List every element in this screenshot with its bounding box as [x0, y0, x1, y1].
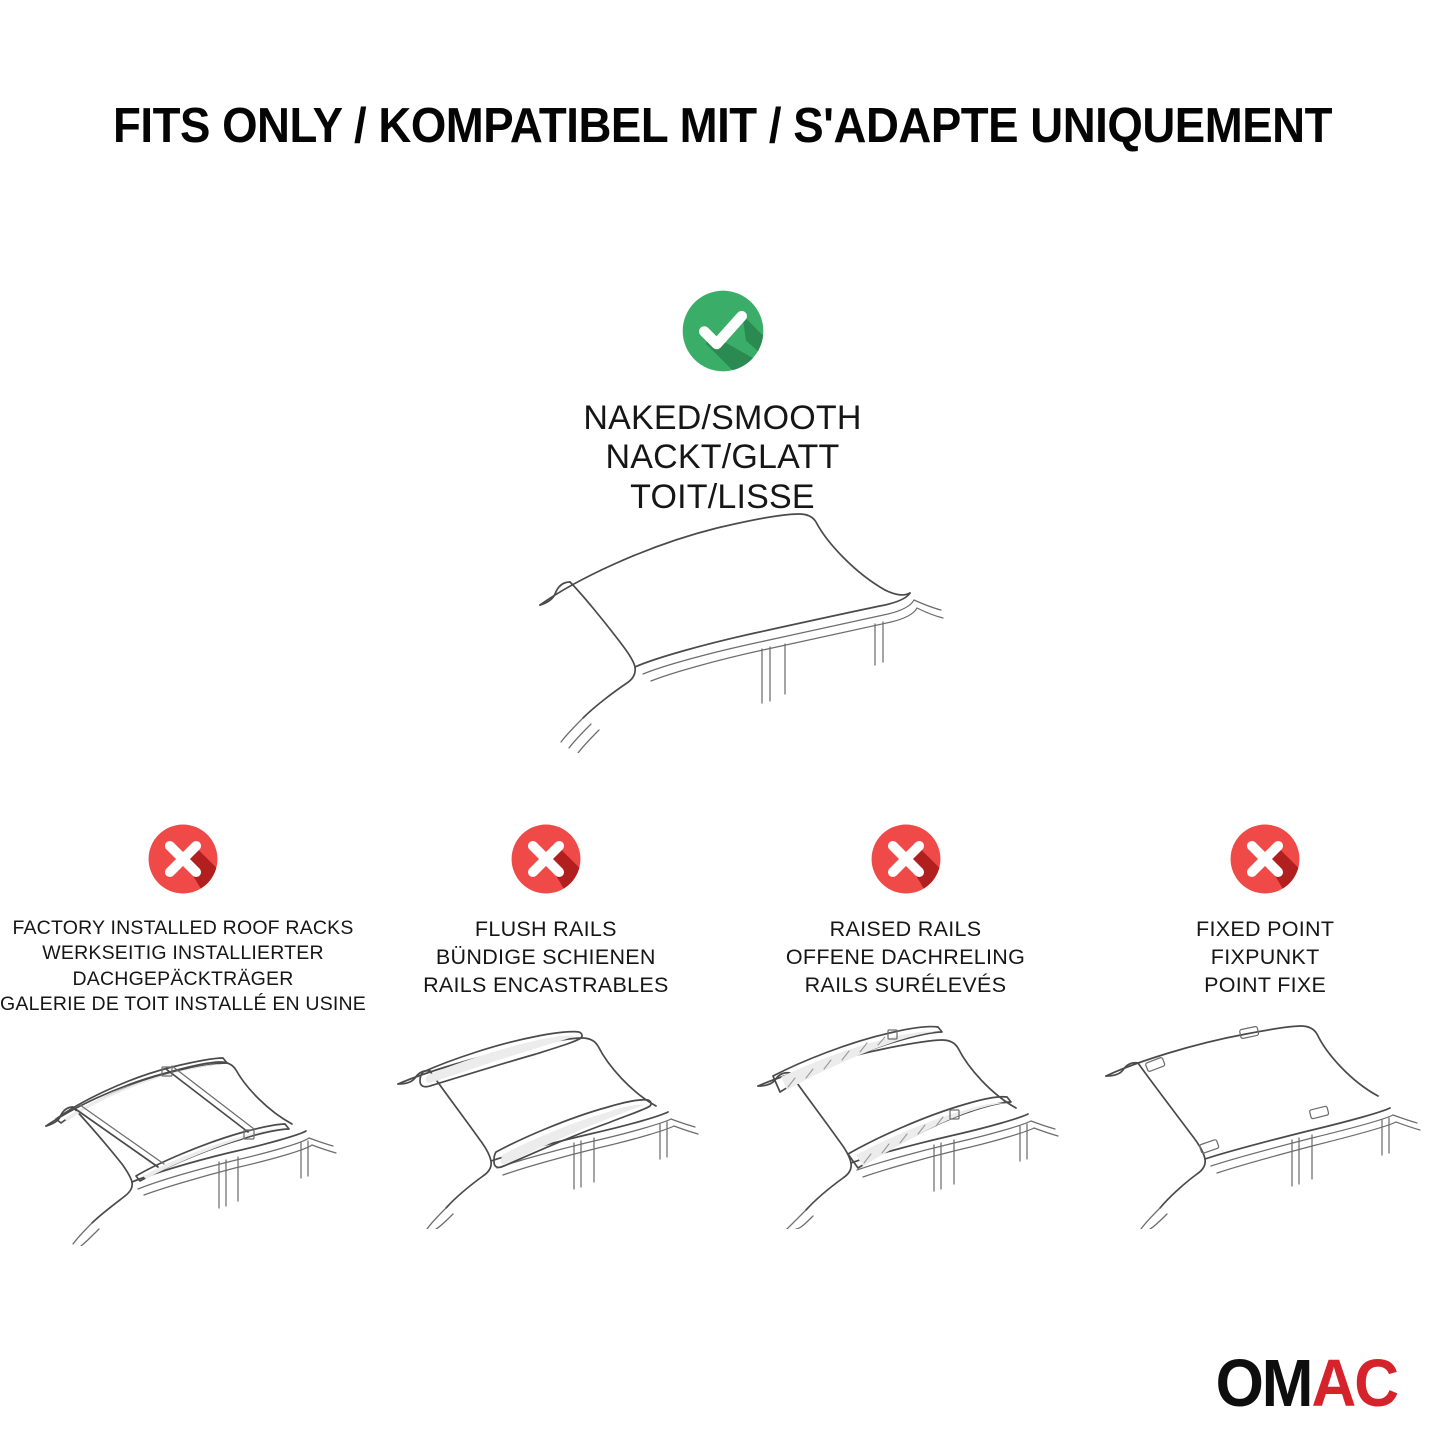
- red-x-circle-icon: [1224, 818, 1306, 900]
- compatible-label-de: NACKT/GLATT: [583, 438, 861, 477]
- car-roof-factory-racks-illustration: [6, 1031, 361, 1246]
- logo-text-om: OM: [1216, 1347, 1312, 1422]
- green-check-circle-icon: [675, 283, 771, 379]
- incompatible-labels-raised-rails: RAISED RAILS OFFENE DACHRELING RAILS SUR…: [786, 916, 1025, 1000]
- label-fr: RAILS ENCASTRABLES: [423, 972, 669, 1000]
- car-roof-flush-rails-illustration: [368, 1014, 723, 1229]
- label-en: FIXED POINT: [1196, 916, 1334, 944]
- incompatible-item-flush-rails: FLUSH RAILS BÜNDIGE SCHIENEN RAILS ENCAS…: [366, 818, 726, 1229]
- label-en: RAISED RAILS: [786, 916, 1025, 944]
- red-x-circle-icon: [865, 818, 947, 900]
- label-en: FACTORY INSTALLED ROOF RACKS: [0, 916, 366, 941]
- red-x-circle-icon: [505, 818, 587, 900]
- label-en: FLUSH RAILS: [423, 916, 669, 944]
- omac-logo: OMAC: [1216, 1351, 1397, 1418]
- label-fr: GALERIE DE TOIT INSTALLÉ EN USINE: [0, 992, 366, 1017]
- logo-text-ac: AC: [1311, 1347, 1397, 1422]
- label-de: OFFENE DACHRELING: [786, 944, 1025, 972]
- incompatible-item-fixed-point: FIXED POINT FIXPUNKT POINT FIXE: [1085, 818, 1445, 1229]
- car-roof-raised-rails-illustration: [728, 1014, 1083, 1229]
- compatible-section: NAKED/SMOOTH NACKT/GLATT TOIT/LISSE: [0, 283, 1445, 517]
- incompatible-labels-flush-rails: FLUSH RAILS BÜNDIGE SCHIENEN RAILS ENCAS…: [423, 916, 669, 1000]
- car-roof-fixed-point-illustration: [1088, 1014, 1443, 1229]
- label-de: FIXPUNKT: [1196, 944, 1334, 972]
- label-de: BÜNDIGE SCHIENEN: [423, 944, 669, 972]
- incompatible-item-factory-installed-roof-racks: FACTORY INSTALLED ROOF RACKS WERKSEITIG …: [0, 818, 366, 1246]
- incompatible-section: FACTORY INSTALLED ROOF RACKS WERKSEITIG …: [0, 818, 1445, 1246]
- label-de-line2: DACHGEPÄCKTRÄGER: [0, 967, 366, 992]
- car-roof-naked-smooth-illustration: [455, 498, 995, 753]
- label-de-line1: WERKSEITIG INSTALLIERTER: [0, 941, 366, 966]
- incompatible-labels-factory-installed-roof-racks: FACTORY INSTALLED ROOF RACKS WERKSEITIG …: [0, 916, 366, 1017]
- incompatible-item-raised-rails: RAISED RAILS OFFENE DACHRELING RAILS SUR…: [726, 818, 1086, 1229]
- page-title: FITS ONLY / KOMPATIBEL MIT / S'ADAPTE UN…: [51, 98, 1395, 154]
- compatible-label-en: NAKED/SMOOTH: [583, 399, 861, 438]
- label-fr: POINT FIXE: [1196, 972, 1334, 1000]
- label-fr: RAILS SURÉLEVÉS: [786, 972, 1025, 1000]
- red-x-circle-icon: [142, 818, 224, 900]
- incompatible-labels-fixed-point: FIXED POINT FIXPUNKT POINT FIXE: [1196, 916, 1334, 1000]
